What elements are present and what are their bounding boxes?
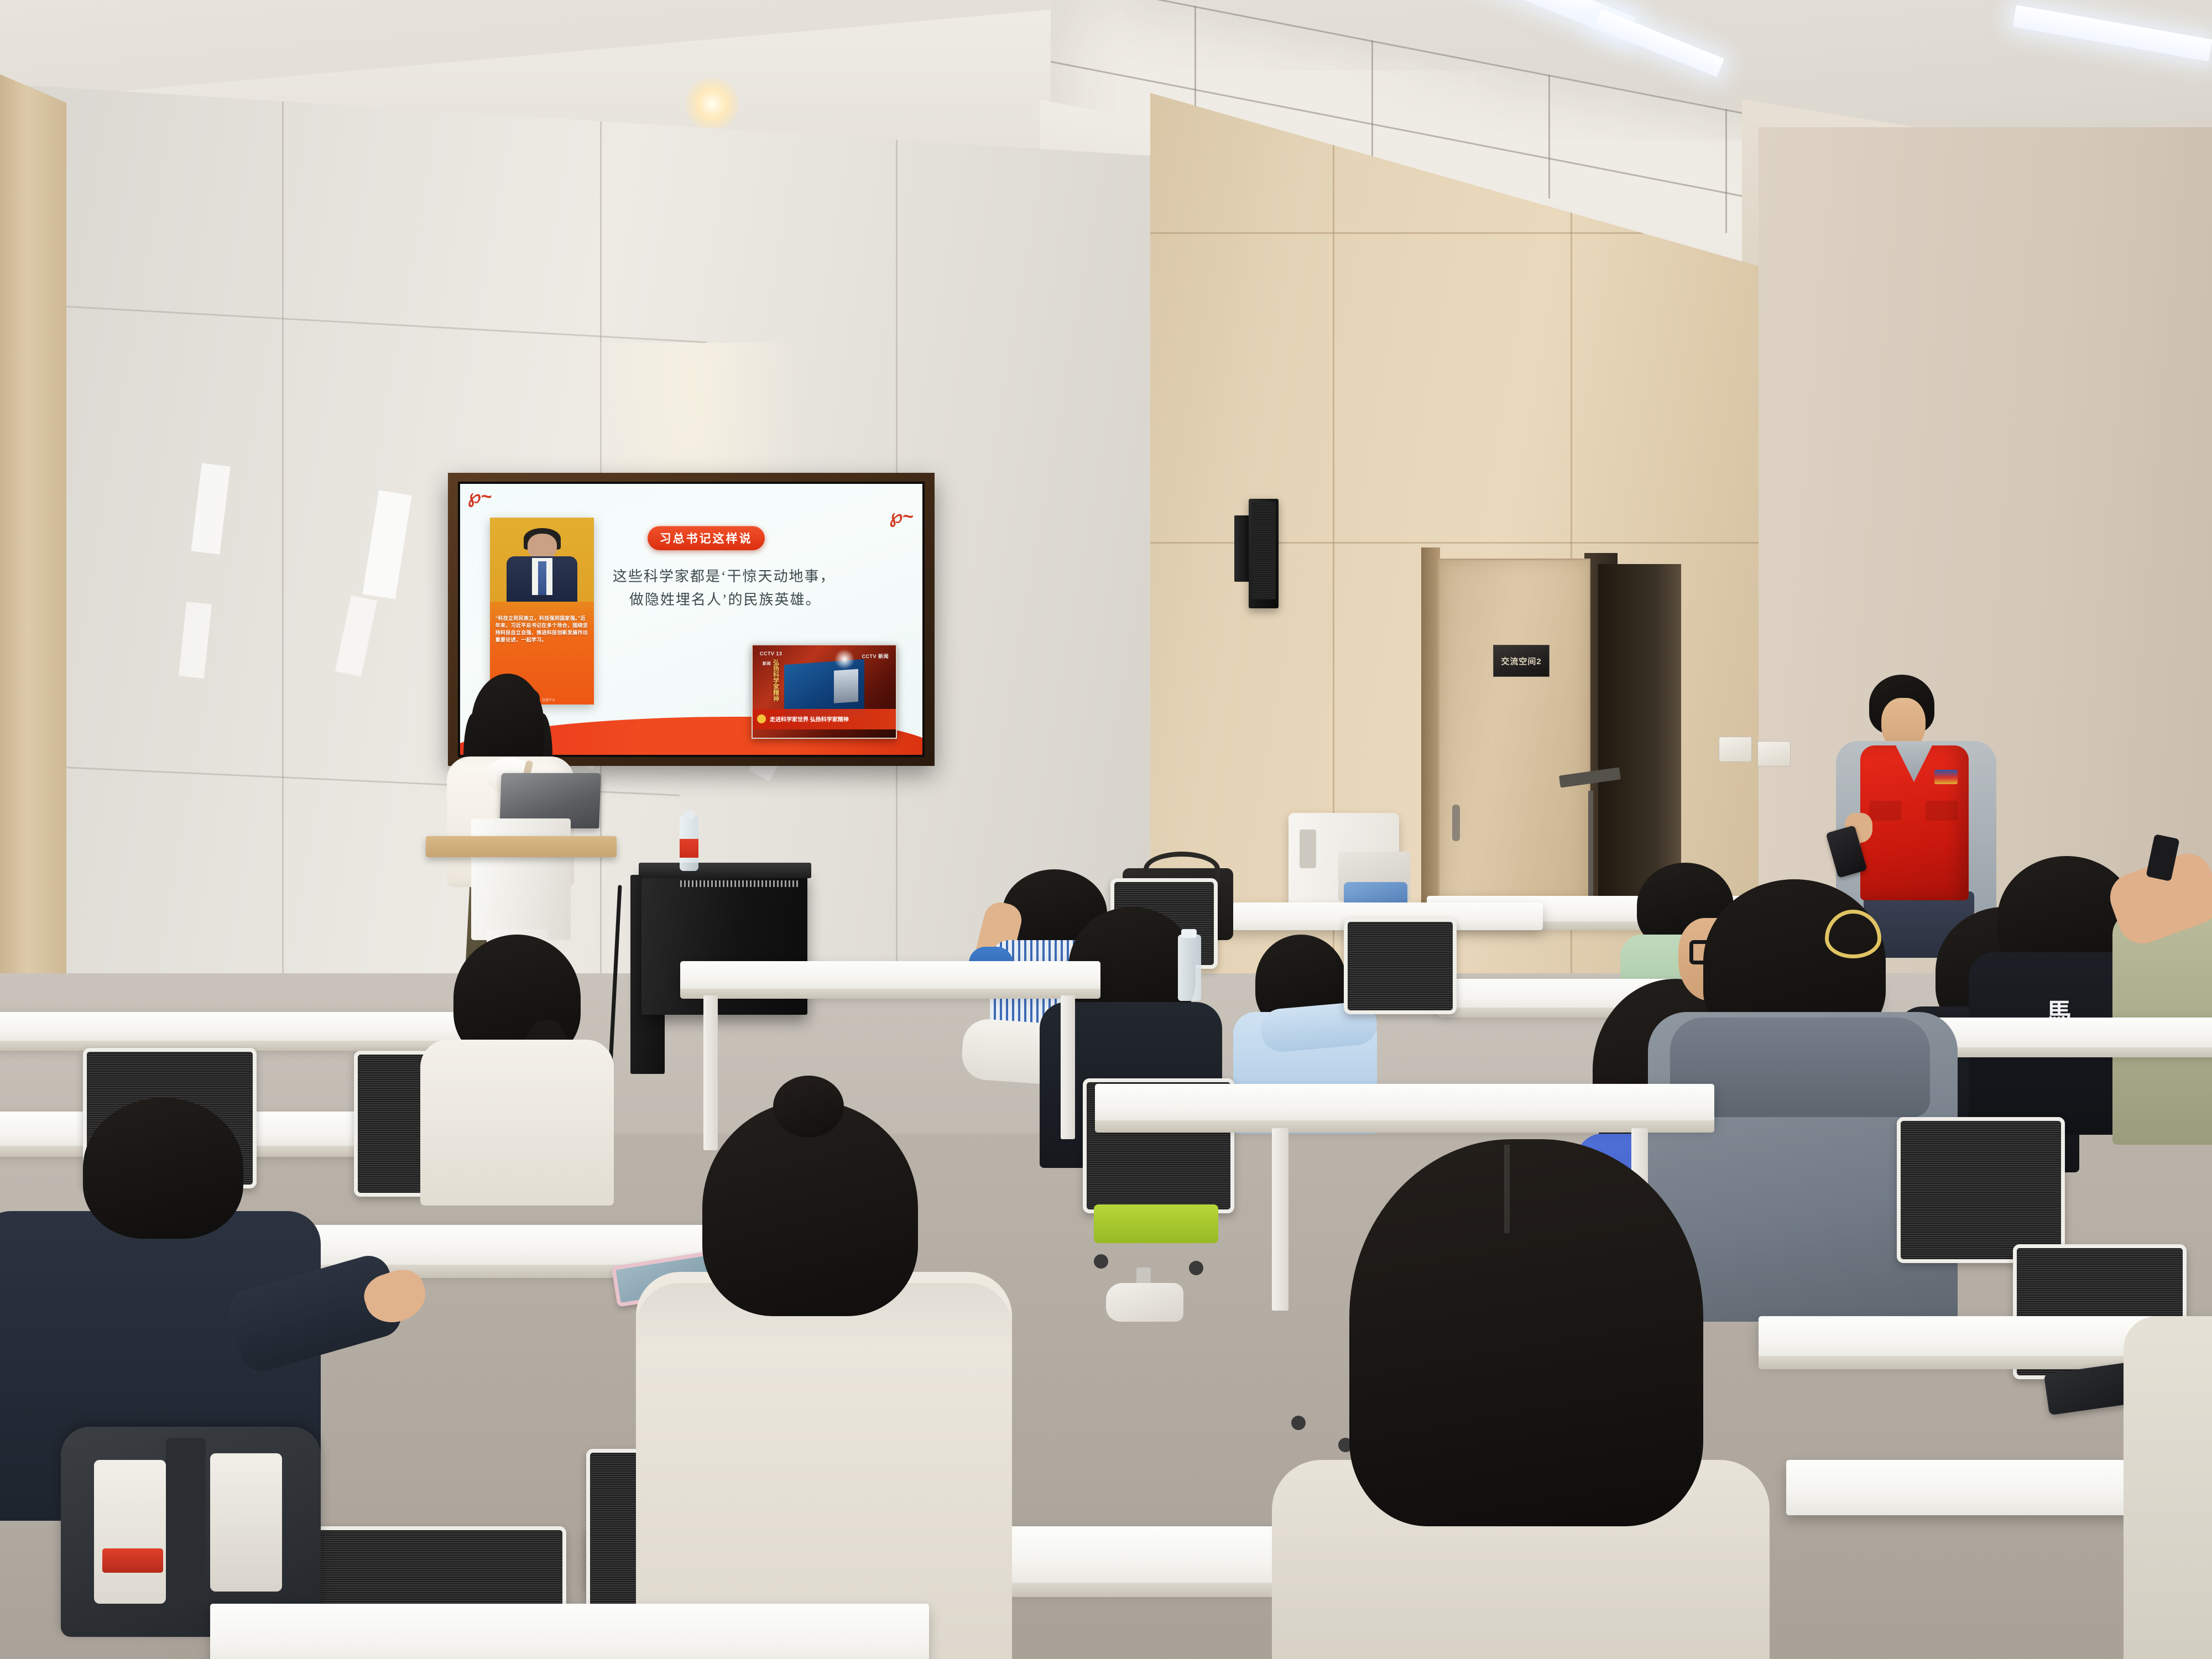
- hair-part-highlight: [1504, 1145, 1510, 1233]
- backpack-print-panel-right: [210, 1453, 282, 1592]
- door-room-sign: 交流空间2: [1493, 645, 1550, 677]
- water-bottle-on-desk[interactable]: [1178, 935, 1201, 1001]
- backpack-strap: [166, 1438, 206, 1604]
- torso-top: [420, 1040, 614, 1206]
- chair-caster: [1094, 1254, 1108, 1269]
- cctv13-logo: CCTV 13: [760, 651, 782, 656]
- water-bottle-on-rack[interactable]: [680, 816, 698, 871]
- water-bottle-cap: [684, 811, 695, 818]
- poster-body-text: “科技立则民族立，科技强则国家强。”近年来，习近平总书记在多个场合，围绕坚持科技…: [495, 615, 589, 644]
- water-bottle-cap: [1181, 929, 1197, 938]
- classroom-photo-scene: 交流空间2 ℘~ ℘~ “科技立则民族: [0, 0, 2212, 1659]
- door-jamb: [1421, 547, 1440, 915]
- left-wood-wall-strip: [0, 72, 66, 1100]
- trolley-slot: [1300, 830, 1316, 868]
- stage-vertical-banner: 弘扬科学家精神: [771, 659, 780, 702]
- desk-leg: [1272, 1128, 1288, 1311]
- door-handle[interactable]: [1452, 805, 1460, 841]
- desk-foreground-bottom: [210, 1604, 929, 1659]
- speaker-grille: [1251, 502, 1276, 599]
- chair-right-group[interactable]: [1897, 1117, 2065, 1263]
- water-bottle-label: [680, 839, 698, 858]
- slide-quote-block: 这些科学家都是‘干惊天动地事， 做隐姓埋名人’的民族英雄。: [613, 565, 899, 611]
- slide-news-video-thumbnail: CCTV 13 新闻 CCTV 新闻 弘扬科学家精神 走进科学家世界 弘扬科学家…: [752, 644, 897, 739]
- wall-speaker: [1249, 499, 1279, 608]
- cctv-news-logo: CCTV 新闻: [862, 653, 889, 660]
- cctv13-sub-label: 新闻: [763, 661, 771, 666]
- desk-edge: [1095, 1120, 1714, 1133]
- slide-quote-line-1: 这些科学家都是‘干惊天动地事，: [613, 565, 899, 588]
- desk-row-center-stage: [1095, 1084, 1714, 1125]
- news-caption-text: 走进科学家世界 弘扬科学家精神: [770, 715, 849, 723]
- child-shoe: [1106, 1283, 1183, 1322]
- stage-screen-photo: [834, 669, 858, 703]
- av-rack-top: [639, 863, 811, 878]
- slide-swirl-decor-right: ℘~: [889, 507, 914, 526]
- av-rack-vent-strip: [680, 880, 799, 887]
- room-door[interactable]: [1438, 559, 1590, 910]
- volunteer-vest-pocket-left: [1869, 801, 1901, 821]
- poster-portrait-photo: [490, 518, 594, 602]
- volunteer-vest-pocket-right: [1926, 801, 1958, 821]
- wall-switch-plate[interactable]: [1719, 737, 1752, 762]
- slide-quote-line-2: 做隐姓埋名人’的民族英雄。: [613, 588, 899, 612]
- slide-swirl-decor-left: ℘~: [468, 487, 492, 506]
- child-hair: [83, 1098, 243, 1239]
- volunteer-badge-icon: [1934, 770, 1958, 784]
- chair-caster: [1291, 1416, 1306, 1430]
- stage-spotlight-glow: [834, 649, 854, 669]
- door-sign-text: 交流空间2: [1501, 655, 1541, 667]
- chair-caster: [1189, 1261, 1203, 1275]
- chair-mid-right[interactable]: [1344, 918, 1457, 1014]
- wall-switch-plate[interactable]: [1757, 741, 1791, 766]
- desk-row-mid-left: [680, 961, 1100, 992]
- backpack-print-panel-left: [94, 1460, 166, 1604]
- backpack-train-motif: [102, 1548, 163, 1573]
- woman-long-hair: [1349, 1139, 1703, 1526]
- slide-title-badge: 习总书记这样说: [648, 526, 765, 550]
- desk-leg: [1061, 995, 1075, 1139]
- person-torso: [2124, 1316, 2212, 1659]
- ceiling-downlight: [686, 77, 739, 131]
- desk-edge: [680, 989, 1100, 999]
- news-badge-dot: [757, 714, 766, 723]
- woman-hair-bun: [773, 1076, 844, 1138]
- desk-leg: [703, 995, 718, 1150]
- podium-top-surface: [426, 836, 617, 857]
- speaker-bracket: [1234, 515, 1250, 582]
- news-lower-third-band: 走进科学家世界 弘扬科学家精神: [753, 709, 896, 729]
